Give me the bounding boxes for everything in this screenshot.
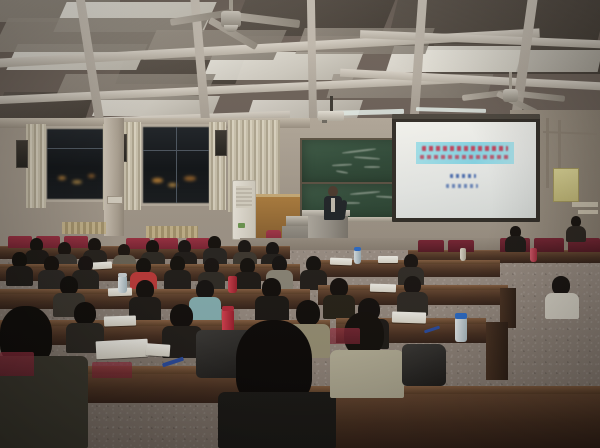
water-bottle xyxy=(118,276,127,293)
bottle-cap xyxy=(118,273,127,277)
radiator xyxy=(62,222,106,234)
radiator xyxy=(146,226,198,238)
curtain xyxy=(26,124,46,208)
water-bottle xyxy=(455,318,467,342)
notepad xyxy=(146,343,171,357)
water-bottle xyxy=(460,248,466,261)
lecture-hall-photo xyxy=(0,0,600,448)
desk-row xyxy=(300,392,600,448)
water-bottle xyxy=(354,250,361,264)
podium-desk xyxy=(286,216,308,226)
slide-heading xyxy=(422,146,508,151)
seat xyxy=(418,240,444,252)
open-notebook xyxy=(104,315,136,326)
black-backpack xyxy=(402,344,446,386)
bottle-cap xyxy=(455,313,467,319)
open-notebook xyxy=(378,256,398,263)
seat xyxy=(0,352,34,376)
desk-end xyxy=(486,322,508,380)
seat xyxy=(92,362,132,378)
bottle-cap xyxy=(222,306,234,311)
wall-sign xyxy=(107,196,123,204)
wall-column xyxy=(104,118,124,236)
wall-panel xyxy=(578,210,598,214)
seat xyxy=(330,328,360,344)
wall-panel xyxy=(572,202,598,207)
red-thermos xyxy=(228,276,237,293)
seat xyxy=(8,236,32,248)
open-notebook xyxy=(392,311,426,323)
air-conditioner xyxy=(232,180,256,240)
seat xyxy=(534,238,564,252)
wall-speaker xyxy=(215,130,227,156)
projector-mount xyxy=(330,96,333,112)
red-thermos xyxy=(530,248,537,262)
projection-screen xyxy=(396,122,536,218)
electrical-box xyxy=(553,168,579,202)
open-notebook xyxy=(330,258,352,266)
open-notebook xyxy=(92,261,112,269)
conduit-pipe xyxy=(546,118,549,188)
slide-presenter-line xyxy=(450,174,476,178)
bottle-cap xyxy=(354,247,361,251)
open-notebook xyxy=(370,284,396,293)
ceiling xyxy=(0,0,600,128)
screen-roller xyxy=(392,114,540,119)
slide-subheading xyxy=(420,155,510,159)
slide-date-line xyxy=(446,184,478,188)
wall-speaker xyxy=(16,140,28,168)
open-notebook xyxy=(96,339,149,360)
